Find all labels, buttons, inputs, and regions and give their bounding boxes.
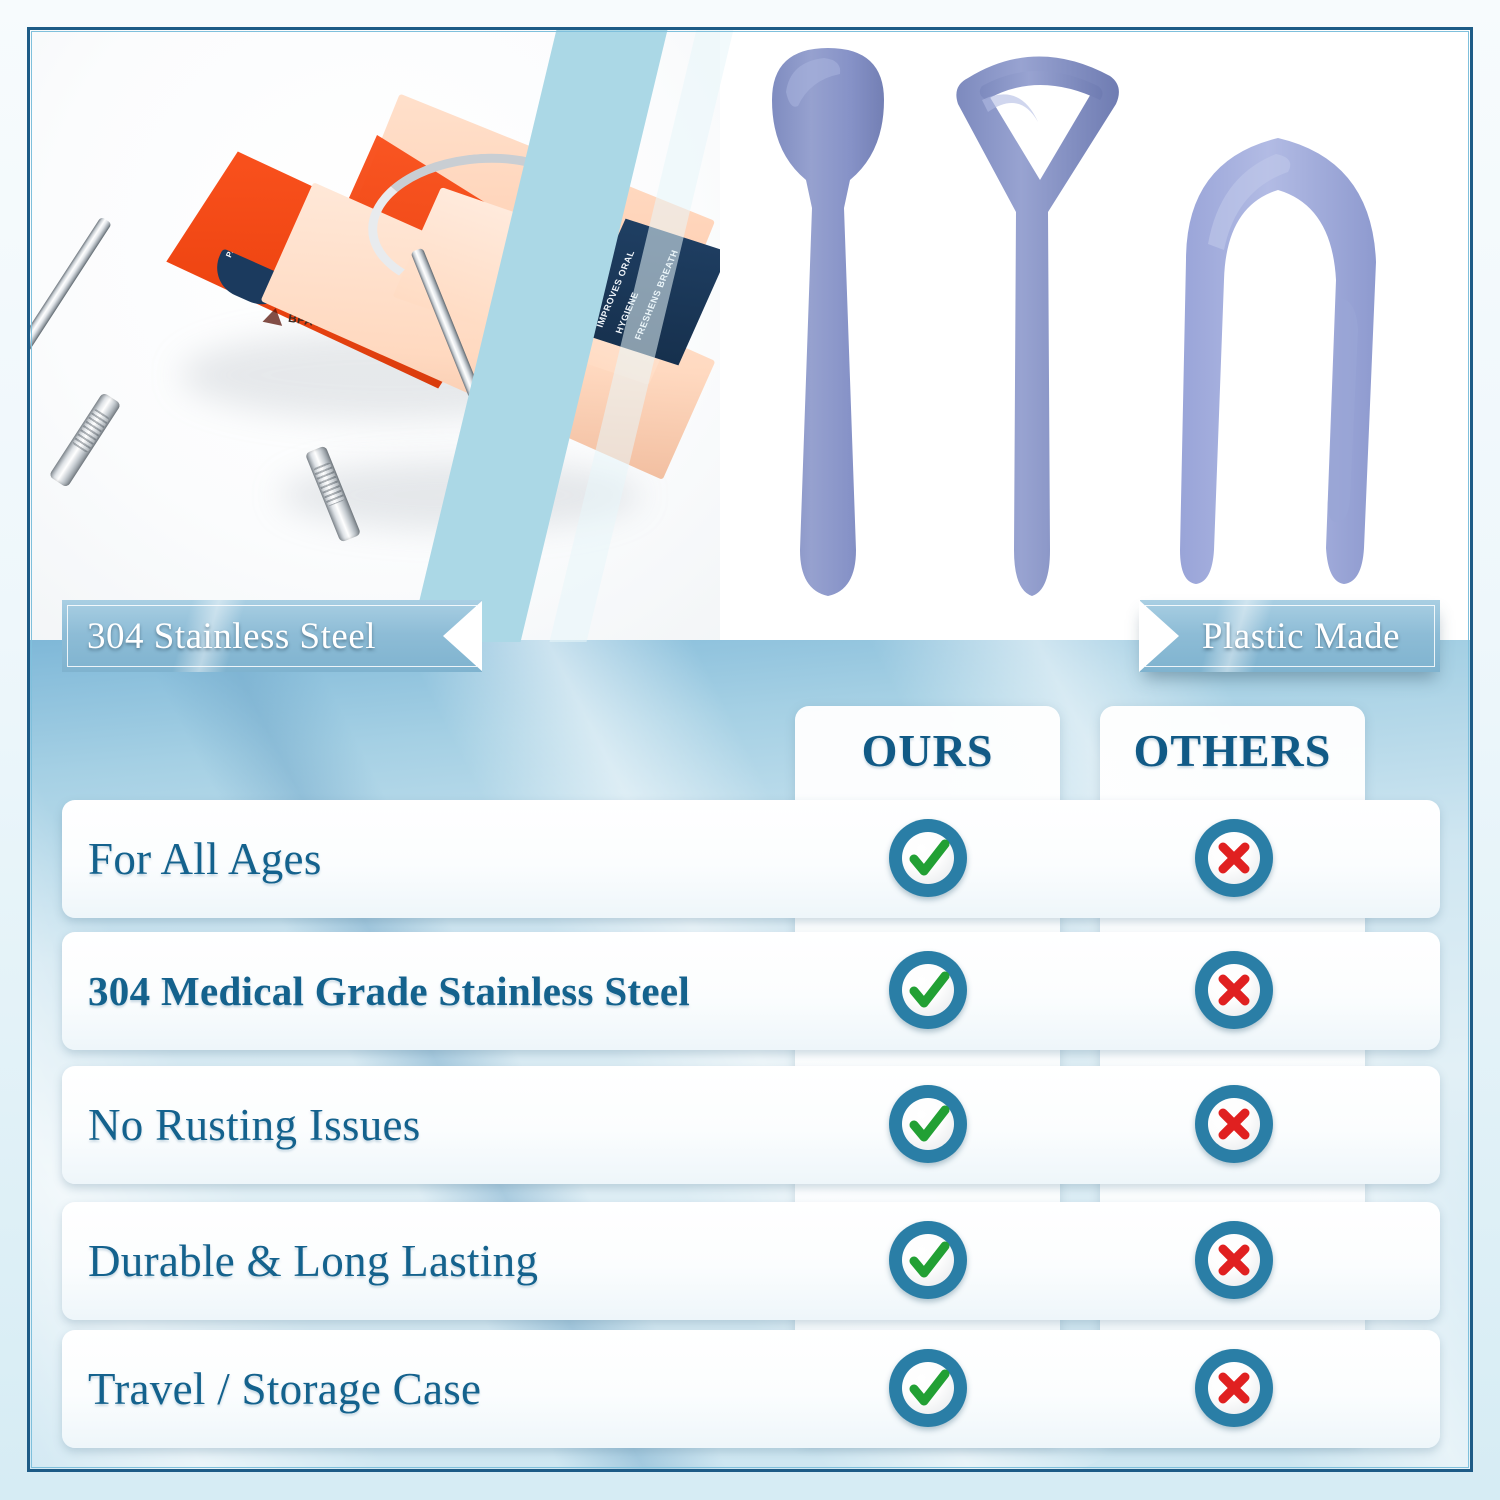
feature-label: Durable & Long Lasting	[88, 1235, 538, 1287]
comparison-table: OURS OTHERS For All Ages 304 Medical Gra…	[0, 0, 1500, 1500]
cross-icon	[1195, 1221, 1273, 1299]
banner-notch-icon-2	[1139, 600, 1179, 672]
banner-stainless-steel: 304 Stainless Steel	[62, 600, 482, 672]
cross-icon	[1195, 951, 1273, 1029]
cross-icon	[1195, 1085, 1273, 1163]
cross-icon	[1195, 819, 1273, 897]
cross-icon	[1195, 1349, 1273, 1427]
check-icon	[889, 951, 967, 1029]
check-icon	[889, 1349, 967, 1427]
column-header-others: OTHERS	[1100, 724, 1365, 777]
feature-label: No Rusting Issues	[88, 1099, 421, 1151]
feature-label: For All Ages	[88, 833, 322, 885]
feature-label: Travel / Storage Case	[88, 1363, 481, 1415]
column-header-ours: OURS	[795, 724, 1060, 777]
check-icon	[889, 1221, 967, 1299]
banner-notch-icon	[443, 600, 483, 672]
check-icon	[889, 819, 967, 897]
banner-plastic-made: Plastic Made	[1140, 600, 1440, 672]
comparison-infographic: PACK OF 1 BPA Free ✓ IMPROVES ORAL HYGIE…	[0, 0, 1500, 1500]
banner-right-label: Plastic Made	[1202, 615, 1400, 658]
feature-label: 304 Medical Grade Stainless Steel	[88, 967, 690, 1015]
banner-left-label: 304 Stainless Steel	[87, 615, 376, 658]
check-icon	[889, 1085, 967, 1163]
